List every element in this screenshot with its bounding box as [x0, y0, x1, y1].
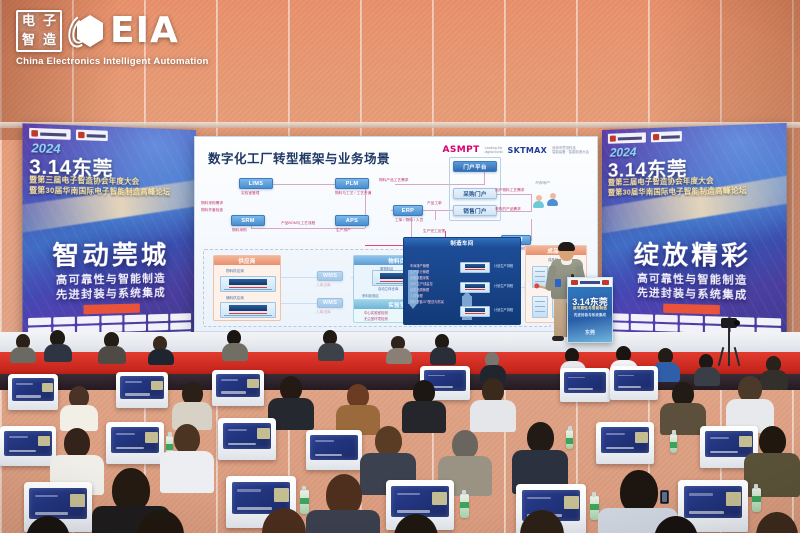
workshop-machine-2	[460, 282, 490, 293]
audience-person	[736, 512, 800, 533]
audience-person	[480, 352, 506, 380]
banner-left-subtitle-2: 暨第30届华南国际电子智能制造高峰论坛	[29, 185, 170, 197]
seat-sponsor-tag	[42, 383, 53, 392]
seal-char-1: 电	[18, 12, 39, 31]
edge-label-procured-product-demand: 采购的产品需求	[495, 207, 521, 212]
workshop-flow-arrow-down	[408, 270, 418, 304]
chair-seat-cover	[610, 366, 658, 400]
machine-base-icon	[224, 315, 272, 317]
presenter-shoe-left	[552, 336, 564, 341]
asmpt-wordmark: ASMPT	[442, 145, 479, 155]
person-head	[759, 426, 786, 456]
caption-lims: 实验室管理	[241, 191, 259, 196]
caption-erp: 工单 / 物料 / 人员	[395, 218, 423, 223]
node-portal-platform[interactable]: 门户平台	[453, 161, 497, 172]
bottle-label	[670, 442, 677, 448]
rollup-logo-row	[568, 278, 612, 287]
audience-person	[10, 334, 36, 360]
workshop-machine-label-2: 计划生产排程	[494, 284, 513, 288]
sktmax-tagline-2: 智能装备 · 智能制造大会	[552, 150, 589, 154]
edge-actors-v	[531, 194, 532, 212]
person-head	[375, 426, 402, 456]
machine-screen-icon	[229, 279, 268, 285]
asmpt-logo: ASMPT	[442, 145, 479, 155]
person-body	[98, 346, 126, 364]
warehouse-item-1: 原物料区	[380, 267, 394, 272]
audience-person	[368, 514, 464, 533]
slide-brand-bar: ASMPT Leading the digital world SKTMAX 深…	[442, 145, 589, 155]
seat-sponsor-tag	[564, 496, 579, 509]
node-portal-purchasing[interactable]: 采购门户	[453, 188, 497, 199]
machine-screen-icon	[465, 284, 485, 288]
banner-right-headline: 绽放精彩	[602, 235, 787, 274]
seat-sponsor-tag	[635, 432, 648, 443]
seat-sponsor-tag	[432, 492, 447, 505]
supplier-item-2: 辅料供应商	[226, 296, 244, 301]
rollup-banner: 3.14东莞 高可靠性与智能制造 先进封装与系统集成 东莞	[567, 277, 613, 343]
workshop-machine-label-1: 计划生产排程	[494, 264, 513, 268]
rollup-sub-1: 高可靠性与智能制造	[568, 306, 612, 311]
conference-photo: 电 子 智 造 EIA China Electronics Intelligen…	[0, 0, 800, 533]
audience-person	[492, 510, 590, 533]
event-banner-right: 2024 3.14东莞 暨第三届电子智造协会年度大会 暨第30届华南国际电子智能…	[602, 123, 787, 342]
audience-person	[172, 382, 212, 428]
person-head	[394, 514, 438, 533]
water-bottle	[752, 488, 761, 512]
seal-char-3: 智	[18, 31, 39, 50]
audience-person	[60, 386, 98, 428]
audience-person	[726, 376, 774, 430]
presentation-screen: 数字化工厂转型框架与业务场景 ASMPT Leading the digital…	[194, 136, 598, 332]
warehouse-item-3: 来料检验区	[362, 294, 379, 299]
label-external-user: 外部用户	[535, 181, 550, 186]
node-erp[interactable]: ERP	[393, 205, 423, 216]
edge-label-material-process-demand: 物料产品工艺需求	[379, 178, 409, 183]
person-head	[26, 516, 70, 533]
rollup-city: 东莞	[568, 329, 612, 336]
person-head	[138, 510, 184, 533]
seat-cover-panel	[614, 370, 654, 391]
lab-item-1: 中心实验室检测	[364, 311, 388, 316]
audience-person	[98, 332, 126, 360]
person-head	[262, 508, 306, 533]
banner-left-sponsor-label	[83, 303, 139, 314]
presenter-hair	[558, 242, 575, 251]
event-banner-left: 2024 3.14东莞 暨第三届电子智造协会年度大会 暨第30届华南国际电子智能…	[22, 123, 196, 341]
audience-area	[0, 330, 800, 533]
chair-seat-cover	[106, 422, 164, 464]
edge-plm-portal	[395, 184, 485, 185]
node-aps[interactable]: APS	[335, 215, 369, 226]
seat-sponsor-tag	[151, 381, 162, 390]
machine-screen-icon	[465, 264, 485, 268]
seat-sponsor-tag	[274, 488, 289, 502]
audience-person	[470, 378, 516, 430]
edge-portal-down	[484, 171, 485, 185]
audience-person	[430, 334, 456, 362]
seat-sponsor-tag	[38, 436, 50, 446]
node-portal-sales[interactable]: 销售门户	[453, 205, 497, 216]
person-body	[386, 348, 412, 364]
person-body	[148, 349, 174, 365]
person-body	[470, 400, 516, 432]
cosponsor-logo-icon	[76, 130, 108, 142]
actor-body-icon	[533, 201, 544, 209]
chair-seat-cover	[306, 430, 362, 470]
zone-supplier: 供应商 物料供应商 辅料供应商	[213, 255, 281, 321]
edge-label-work-order: 产品工单	[427, 201, 442, 206]
chair-seat-cover	[212, 370, 264, 406]
organizer-logo-icon	[29, 128, 70, 140]
node-srm[interactable]: SRM	[231, 215, 265, 226]
edge-actors-crm	[531, 219, 532, 241]
supplier-machine-1	[220, 276, 276, 292]
edge-label-bom-process: 产品BOM与工艺流程	[281, 221, 315, 226]
seal-char-2: 子	[39, 12, 60, 31]
chair-seat-cover	[116, 372, 168, 408]
audience-person	[386, 336, 412, 362]
ceia-hexagon-icon	[69, 11, 103, 51]
sktmax-logo: SKTMAX	[508, 146, 548, 155]
person-body	[430, 347, 456, 365]
organizer-logo-icon	[608, 132, 646, 143]
tripod-leg-2	[734, 347, 741, 366]
presenter-badge	[555, 279, 561, 287]
person-head	[654, 516, 698, 533]
ceia-watermark: 电 子 智 造 EIA China Electronics Intelligen…	[16, 8, 216, 74]
seat-sponsor-tag	[247, 379, 258, 388]
actor-body-icon	[547, 199, 558, 207]
machine-bar-icon	[465, 313, 485, 314]
caption-plm: 物料与工艺 / 工艺开通	[335, 191, 371, 196]
edge-label-production-feedback: 生产完工反馈	[423, 229, 445, 234]
person-head	[174, 424, 200, 454]
watermark-logo-row: 电 子 智 造 EIA	[16, 8, 216, 54]
person-body	[44, 344, 72, 362]
audience-person	[660, 382, 706, 432]
machine-bar-icon	[465, 289, 485, 290]
caption-aps: 生产排产	[336, 228, 351, 233]
tripod-leg-1	[718, 347, 725, 366]
node-plm[interactable]: PLM	[335, 178, 369, 189]
zone-workshop-title: 制造车间	[404, 238, 520, 247]
person-body	[10, 347, 36, 363]
audience-person	[512, 422, 568, 490]
seat-sponsor-tag	[70, 494, 85, 507]
seal-char-4: 造	[39, 31, 60, 50]
machine-screen-icon	[465, 308, 485, 312]
chair-seat-cover	[596, 422, 654, 464]
sktmax-wordmark: SKTMAX	[508, 146, 548, 155]
smartphone[interactable]	[660, 490, 669, 504]
zone-supplier-title: 供应商	[214, 256, 280, 265]
edge-label-material-kitting-check: 物料齐套检查	[201, 208, 223, 213]
banner-right-sponsor-label	[663, 304, 720, 315]
audience-person	[110, 510, 210, 533]
edge-erp-down	[435, 210, 436, 220]
audience-person	[318, 330, 344, 358]
banner-left-headline: 智动莞城	[22, 235, 196, 273]
audience-person	[336, 384, 380, 432]
seat-cover-panel	[564, 372, 606, 393]
slide-title: 数字化工厂转型框架与业务场景	[208, 148, 390, 167]
tripod-leg-3	[728, 347, 730, 366]
chinese-seal-icon: 电 子 智 造	[16, 10, 62, 52]
person-body	[318, 343, 344, 361]
chair-seat-cover	[0, 426, 56, 466]
chair-seat-cover	[560, 368, 610, 402]
person-head	[452, 430, 478, 459]
tripod-pole	[728, 327, 730, 349]
workshop-machine-3	[460, 306, 490, 317]
asmpt-tagline: Leading the digital world	[485, 146, 503, 155]
actor-sales-user	[547, 193, 558, 206]
workshop-machine-label-3: 计划生产排程	[494, 308, 513, 312]
person-head	[756, 512, 798, 533]
edge-portal-buy	[491, 194, 531, 195]
camera-lens-icon	[734, 320, 740, 326]
seat-cover-panel	[310, 435, 357, 460]
seat-sponsor-tag	[257, 428, 270, 439]
audience-person	[744, 426, 800, 492]
audience-person	[236, 508, 332, 533]
edge-lims-plm	[273, 184, 335, 185]
node-lims[interactable]: LIMS	[239, 178, 273, 189]
person-head	[520, 510, 564, 533]
machine-base-icon	[224, 289, 272, 291]
rollup-sub-2: 先进封装与系统集成	[568, 312, 612, 317]
seat-sponsor-tag	[726, 492, 741, 506]
bottle-label	[752, 496, 761, 502]
machine-screen-icon	[229, 305, 268, 311]
chair-seat-cover	[8, 374, 58, 410]
audience-person	[628, 516, 724, 533]
warehouse-item-2: 自动立体仓库	[378, 287, 398, 292]
audience-person	[402, 380, 446, 430]
audience-person	[148, 336, 174, 362]
person-body	[222, 343, 248, 361]
asmpt-tagline-2: digital world	[485, 150, 503, 154]
supplier-item-1: 物料供应商	[226, 269, 244, 274]
person-head	[64, 428, 90, 458]
sktmax-tagline: 深圳市思坦科技 智能装备 · 智能制造大会	[552, 146, 589, 155]
zone-workshop: 制造车间 车间排产管理 生产执行管理 设备数据采集 SMT生产线监控 品质追溯管…	[403, 237, 521, 325]
audience-person	[0, 516, 96, 533]
watermark-acronym: EIA	[110, 13, 179, 49]
audience-person	[222, 330, 248, 358]
edge-label-material-purchase-demand: 物料采购需求	[201, 201, 223, 206]
edge-label-user-process-demand: 用户物料工艺需求	[495, 188, 525, 193]
supplier-machine-2	[220, 302, 276, 318]
actor-purchasing-user	[533, 195, 544, 208]
banner-right-subtitle-2: 暨第30届华南国际电子智能制造高峰论坛	[608, 186, 747, 198]
bottle-label	[460, 502, 469, 508]
machine-bar-icon	[465, 269, 485, 270]
cosponsor-logo-icon	[651, 131, 682, 142]
lab-item-2: 无尘室环境检测	[364, 317, 388, 322]
workshop-item-1: 车间排产管理	[410, 264, 429, 268]
caption-srm: 物料采购	[232, 228, 247, 233]
person-head	[527, 422, 554, 453]
workshop-machine-1	[460, 262, 490, 273]
seat-sponsor-tag	[145, 432, 158, 443]
water-bottle	[670, 434, 677, 453]
audience-person	[44, 330, 72, 360]
watermark-tagline: China Electronics Intelligent Automation	[16, 56, 216, 67]
chair-seat-cover	[218, 418, 276, 460]
camera-tripod	[716, 318, 742, 366]
